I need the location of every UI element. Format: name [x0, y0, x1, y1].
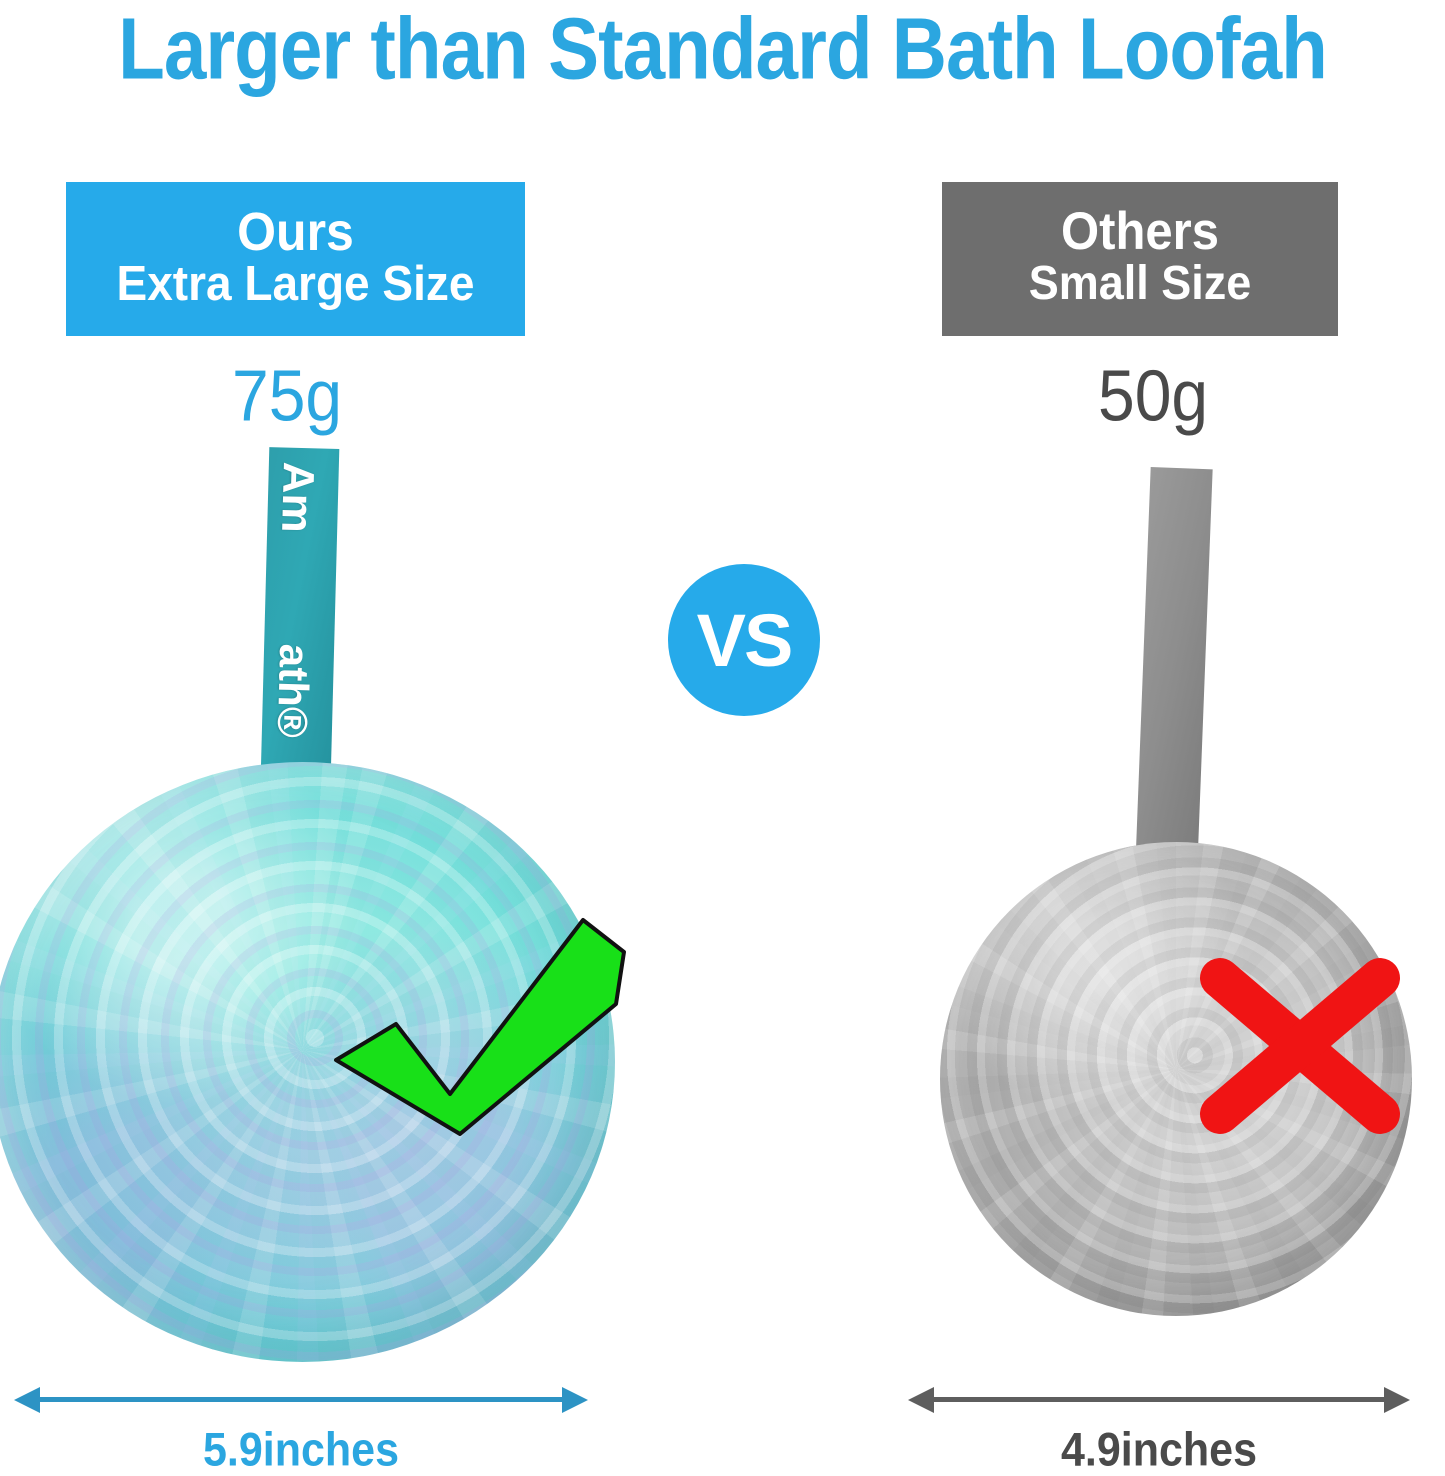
ours-measure-arrow [14, 1382, 588, 1416]
ours-weight-label: 75g [232, 353, 342, 437]
others-label-badge: Others Small Size [942, 182, 1338, 336]
ours-badge-subtitle: Extra Large Size [117, 257, 475, 310]
others-measure-label: 4.9inches [908, 1424, 1410, 1476]
others-measure-arrow [908, 1382, 1410, 1416]
green-check-icon [330, 912, 630, 1142]
red-x-icon [1186, 948, 1414, 1144]
strap-brand-text-bottom: ath® [268, 643, 318, 738]
others-badge-title: Others [1061, 205, 1219, 261]
vs-badge: VS [668, 564, 820, 716]
others-badge-subtitle: Small Size [1029, 257, 1252, 309]
ours-measure-label: 5.9inches [14, 1424, 588, 1476]
infographic-canvas: Larger than Standard Bath Loofah Ours Ex… [0, 0, 1445, 1476]
arrow-line [36, 1397, 566, 1402]
ours-label-badge: Ours Extra Large Size [66, 182, 525, 336]
arrow-right-head-icon [1384, 1387, 1410, 1413]
arrow-right-head-icon [562, 1387, 588, 1413]
arrow-line [930, 1397, 1388, 1402]
others-weight-label: 50g [1098, 353, 1208, 437]
ours-measurement: 5.9inches [14, 1382, 588, 1475]
page-title: Larger than Standard Bath Loofah [14, 0, 1430, 100]
others-hanging-strap [1135, 467, 1212, 869]
ours-badge-title: Ours [237, 204, 354, 261]
others-measurement: 4.9inches [908, 1382, 1410, 1475]
strap-brand-text-top: Am [271, 461, 323, 533]
ours-hanging-strap: Am ath® [261, 447, 340, 779]
